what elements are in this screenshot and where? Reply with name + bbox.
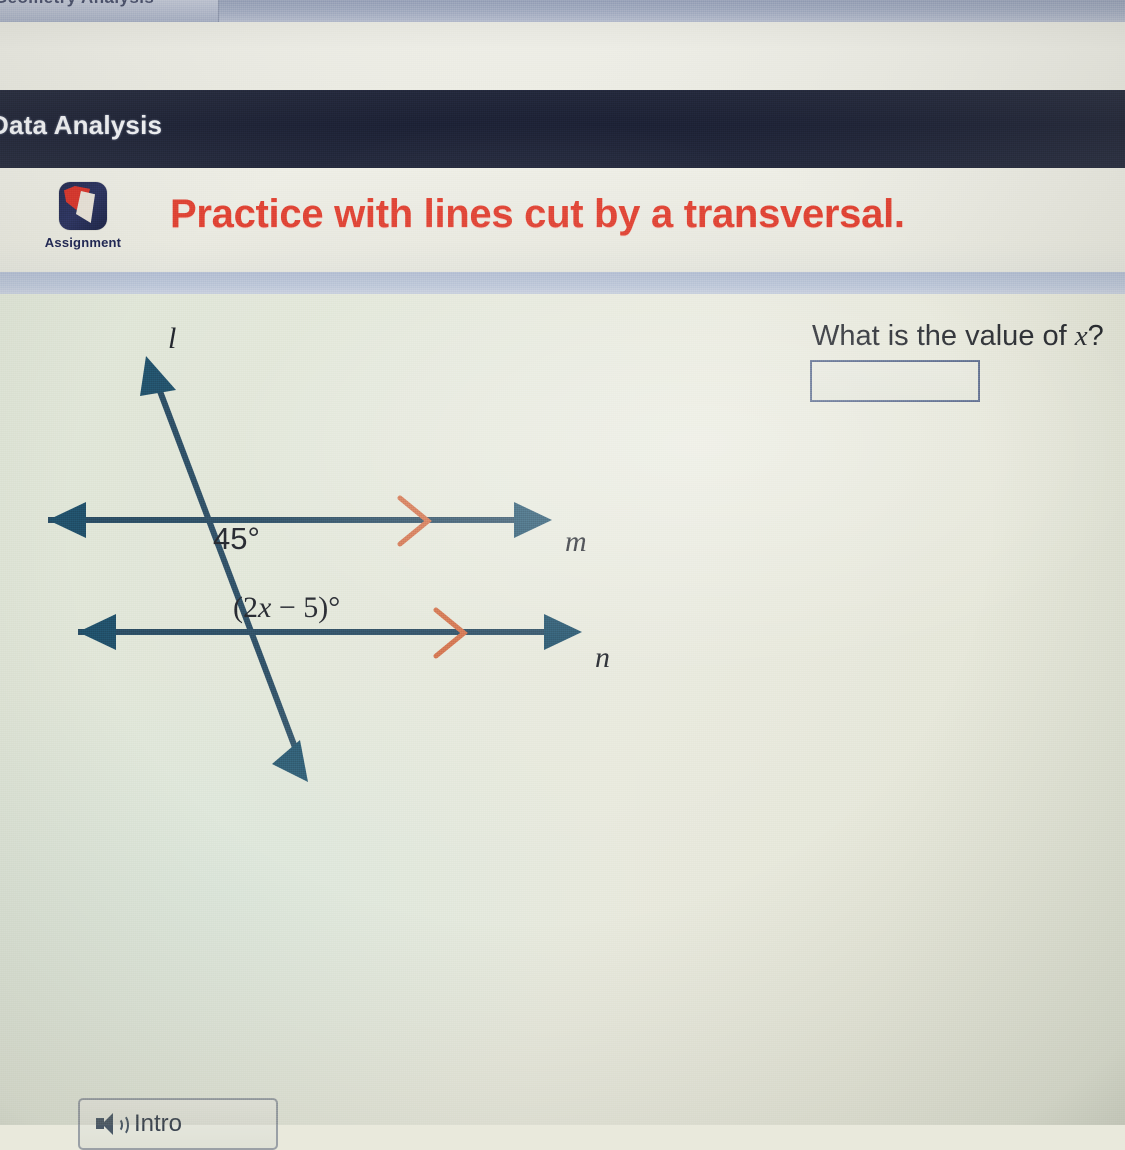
label-line-n: n	[595, 641, 610, 675]
question-prefix: What is the value of	[812, 320, 1075, 352]
nav-bar: Data Analysis	[0, 90, 1125, 168]
answer-input[interactable]	[810, 360, 980, 402]
label-line-l: l	[168, 322, 176, 356]
page-title: Practice with lines cut by a transversal…	[170, 192, 905, 237]
label-angle-expression: (2x − 5)°	[233, 591, 340, 625]
intro-audio-button[interactable]: Intro	[78, 1098, 278, 1150]
question-variable: x	[1075, 320, 1088, 352]
expr-rest: − 5)°	[271, 591, 340, 624]
browser-tab-label: Geometry Analysis	[0, 0, 154, 8]
label-angle-45: 45°	[213, 521, 260, 557]
header-separator	[0, 272, 1125, 295]
browser-tab-strip: Geometry Analysis	[0, 0, 1125, 22]
speaker-icon	[96, 1113, 122, 1135]
intro-button-label: Intro	[134, 1110, 182, 1138]
expr-variable: x	[258, 591, 271, 624]
transversal-diagram	[0, 294, 660, 834]
chrome-blank-area	[0, 22, 1125, 90]
expr-open: (2	[233, 591, 258, 624]
line-m	[48, 502, 552, 538]
assignment-badge[interactable]: Assignment	[28, 182, 138, 266]
line-l-transversal	[140, 356, 308, 782]
question-prompt: What is the value of x?	[812, 320, 1104, 353]
label-line-m: m	[565, 525, 587, 559]
nav-bar-title: Data Analysis	[0, 110, 162, 141]
assignment-icon	[59, 182, 107, 230]
lesson-header: Assignment Practice with lines cut by a …	[0, 168, 1125, 272]
assignment-label: Assignment	[28, 235, 138, 250]
question-suffix: ?	[1088, 320, 1104, 352]
